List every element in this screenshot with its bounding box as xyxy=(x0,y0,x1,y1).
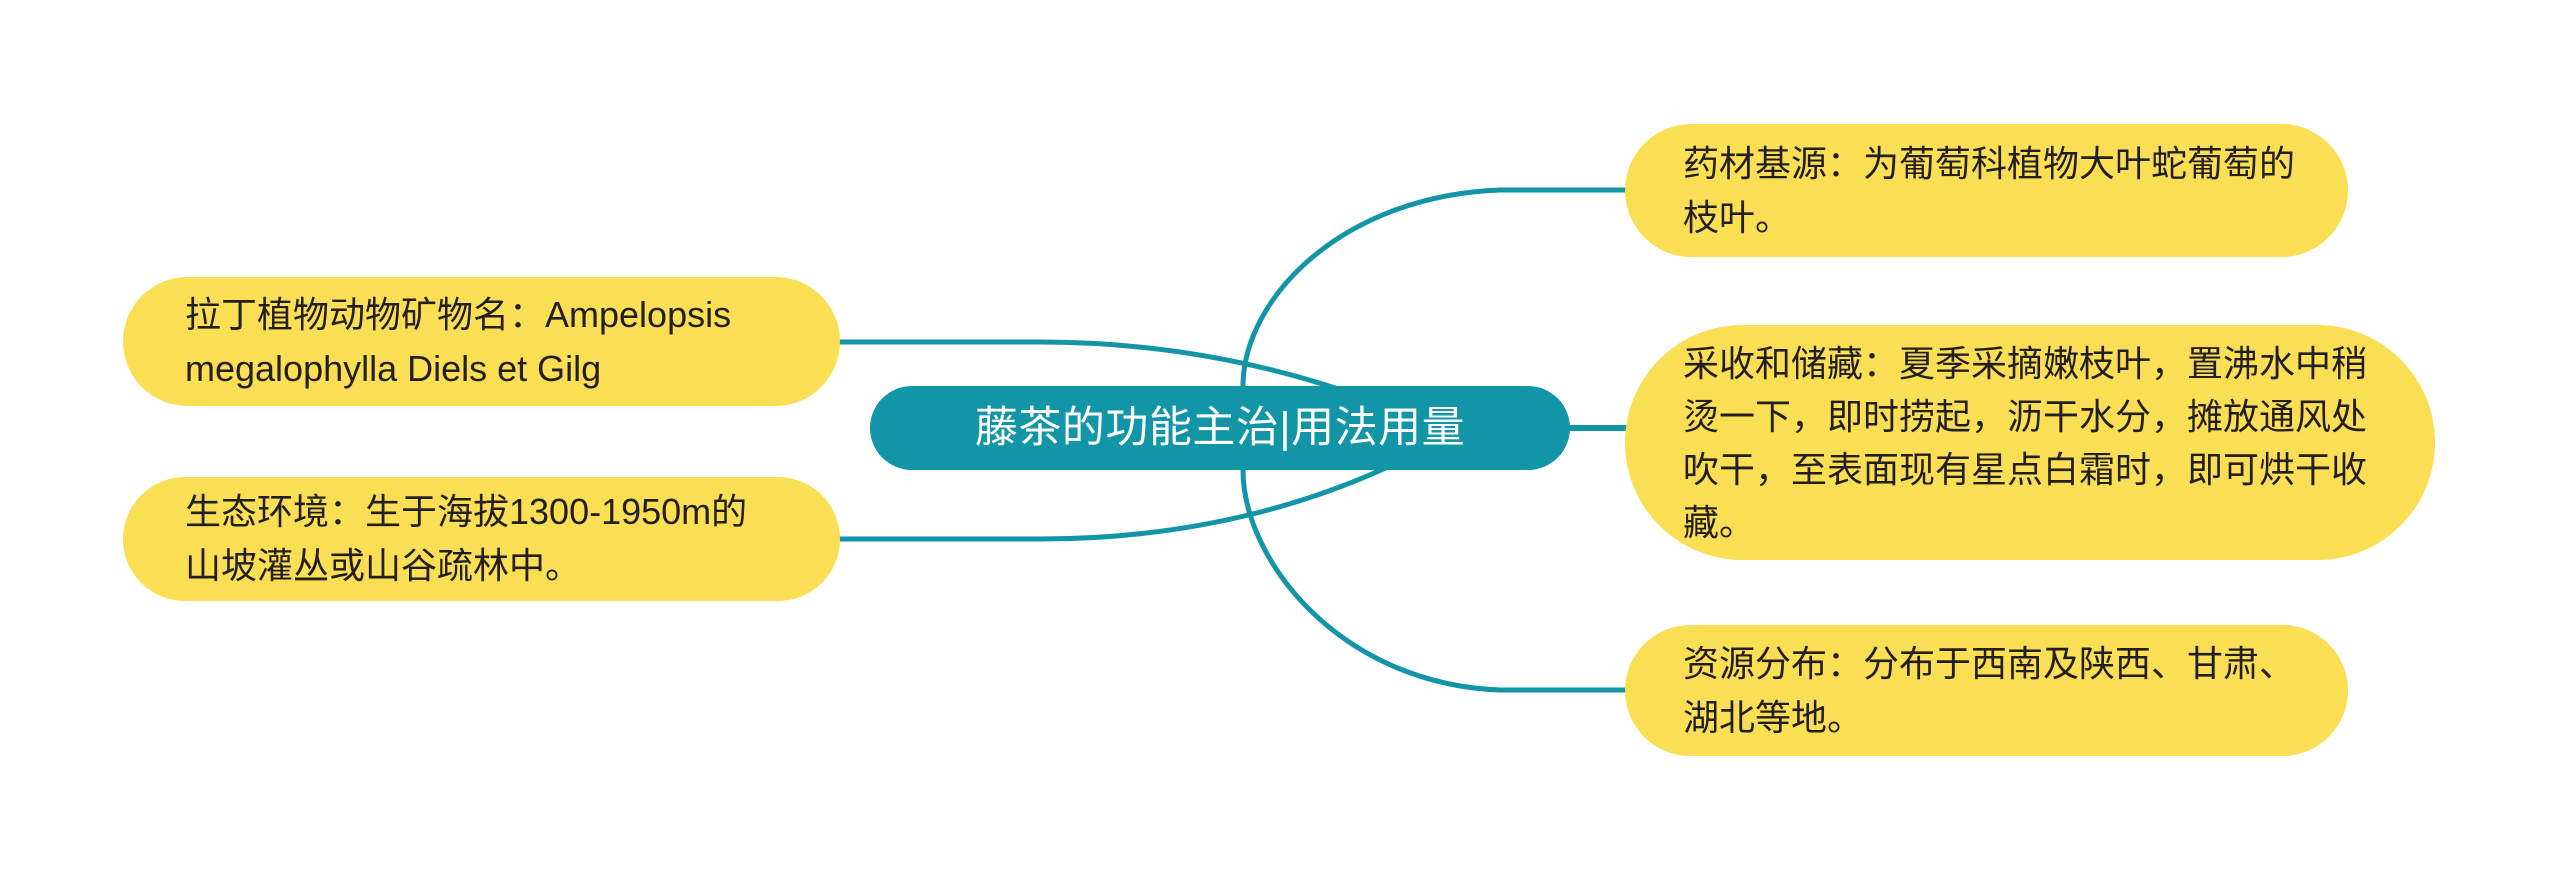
mindmap-node-label: 资源分布：分布于西南及陕西、甘肃、湖北等地。 xyxy=(1683,637,2296,745)
mindmap-node-label: 生态环境：生于海拔1300-1950m的山坡灌丛或山谷疏林中。 xyxy=(185,485,782,593)
mindmap-node-label: 药材基源：为葡萄科植物大叶蛇葡萄的枝叶。 xyxy=(1683,137,2296,245)
mindmap-root-node[interactable]: 藤茶的功能主治|用法用量 xyxy=(870,386,1570,470)
mindmap-node-label: 采收和储藏：夏季采摘嫩枝叶，置沸水中稍烫一下，即时捞起，沥干水分，摊放通风处吹干… xyxy=(1683,337,2387,549)
mindmap-node-distribution[interactable]: 资源分布：分布于西南及陕西、甘肃、湖北等地。 xyxy=(1625,625,2348,756)
mindmap-root-label: 藤茶的功能主治|用法用量 xyxy=(900,401,1540,455)
connector-source xyxy=(1243,190,1627,386)
mindmap-node-source[interactable]: 药材基源：为葡萄科植物大叶蛇葡萄的枝叶。 xyxy=(1625,124,2348,257)
connector-distribution xyxy=(1243,470,1627,690)
mindmap-node-label: 拉丁植物动物矿物名：Ampelopsis megalophylla Diels … xyxy=(185,288,782,396)
mindmap-canvas: 拉丁植物动物矿物名：Ampelopsis megalophylla Diels … xyxy=(0,0,2560,881)
mindmap-node-latin-name[interactable]: 拉丁植物动物矿物名：Ampelopsis megalophylla Diels … xyxy=(123,277,840,406)
mindmap-node-harvest[interactable]: 采收和储藏：夏季采摘嫩枝叶，置沸水中稍烫一下，即时捞起，沥干水分，摊放通风处吹干… xyxy=(1625,325,2435,560)
mindmap-node-ecology[interactable]: 生态环境：生于海拔1300-1950m的山坡灌丛或山谷疏林中。 xyxy=(123,477,840,601)
